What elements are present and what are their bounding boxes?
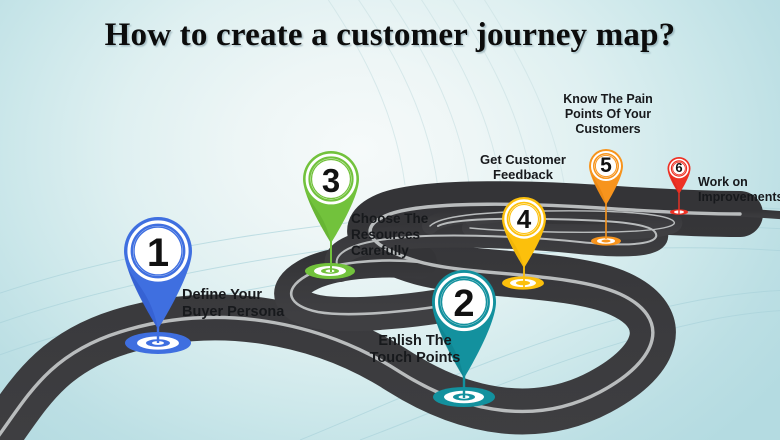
pin-6-disc bbox=[672, 162, 686, 176]
pin-3-label: Choose The Resources Carefully bbox=[351, 211, 428, 259]
journey-pin-5[interactable]: 5 bbox=[587, 141, 625, 241]
pin-2-shape bbox=[428, 256, 500, 402]
pin-1-label: Define Your Buyer Persona bbox=[182, 287, 284, 321]
journey-pin-2[interactable]: 2 bbox=[428, 256, 500, 402]
pin-5-label: Know The Pain Points Of Your Customers bbox=[563, 92, 653, 136]
pin-6-label: Work on Improvements bbox=[698, 175, 780, 205]
pin-2-disc bbox=[441, 279, 488, 326]
journey-pin-1[interactable]: 1 bbox=[120, 203, 196, 349]
journey-pin-6[interactable]: 6 bbox=[666, 152, 692, 218]
pin-5-disc bbox=[595, 155, 618, 178]
pin-4-disc bbox=[509, 204, 540, 235]
journey-pin-4[interactable]: 4 bbox=[500, 188, 548, 292]
pin-4-shape bbox=[500, 188, 548, 292]
pin-5-shape bbox=[587, 141, 625, 241]
customer-journey-infographic: How to create a customer journey map? bbox=[0, 0, 780, 440]
pin-3-disc bbox=[311, 159, 352, 200]
pin-2-label: Enlish The Touch Points bbox=[370, 333, 461, 367]
pin-6-shape bbox=[666, 152, 692, 218]
pin-1-disc bbox=[133, 226, 183, 276]
pin-4-label: Get Customer Feedback bbox=[480, 152, 566, 183]
pin-1-shape bbox=[120, 203, 196, 349]
